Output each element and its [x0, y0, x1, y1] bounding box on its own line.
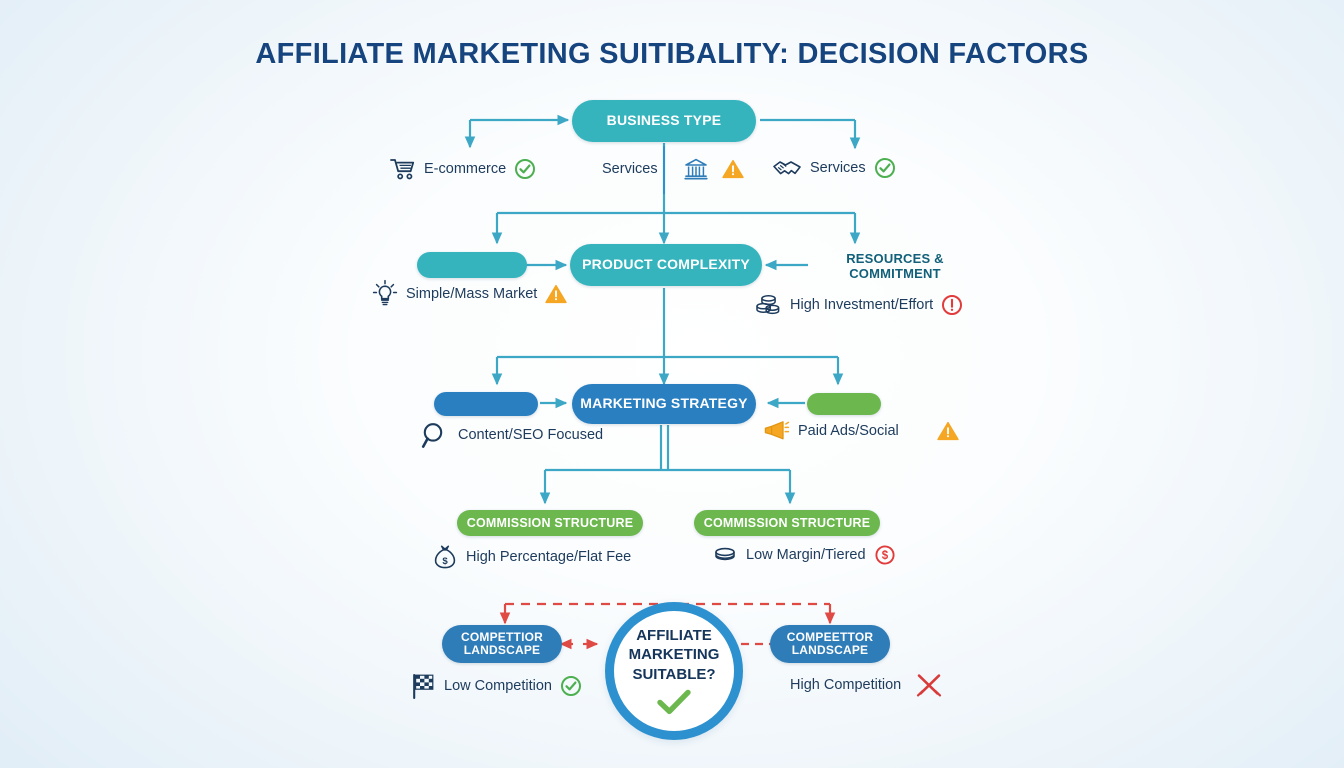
node-commission-right-label: COMMISSION STRUCTURE: [704, 516, 871, 530]
bank-icon: [684, 157, 708, 181]
money-bag-icon: $: [432, 544, 458, 570]
lightbulb-icon: [372, 279, 398, 309]
leaf-high-percentage[interactable]: $ High Percentage/Flat Fee: [432, 544, 631, 570]
shopping-cart-icon: [390, 157, 416, 181]
node-product-complexity[interactable]: PRODUCT COMPLEXITY: [570, 244, 762, 286]
warning-triangle-icon: [722, 159, 744, 179]
leaf-paid-ads[interactable]: Paid Ads/Social: [762, 420, 959, 442]
leaf-content-seo[interactable]: Content/SEO Focused: [420, 420, 603, 450]
leaf-services-partner[interactable]: Services: [772, 157, 896, 179]
leaf-high-investment[interactable]: High Investment/Effort: [754, 292, 963, 318]
leaf-services-bank[interactable]: Services: [602, 157, 744, 181]
leaf-label: High Percentage/Flat Fee: [466, 549, 631, 565]
node-competitor-left[interactable]: COMPETTIOR LANDSCAPE: [442, 625, 562, 663]
leaf-simple-mass-market[interactable]: Simple/Mass Market: [372, 279, 567, 309]
check-circle-icon: [514, 158, 536, 180]
node-commission-right[interactable]: COMMISSION STRUCTURE: [694, 510, 880, 536]
node-business-type-label: BUSINESS TYPE: [607, 113, 722, 129]
page-title: AFFILIATE MARKETING SUITIBALITY: DECISIO…: [0, 38, 1344, 71]
node-marketing-strategy[interactable]: MARKETING STRATEGY: [572, 384, 756, 424]
checkered-flag-icon: [410, 672, 436, 700]
leaf-ecommerce[interactable]: E-commerce: [390, 157, 536, 181]
decision-line-1: AFFILIATE: [636, 627, 712, 644]
decision-line-2: MARKETING: [629, 646, 720, 663]
check-mark-icon: [657, 689, 691, 715]
node-marketing-strategy-label: MARKETING STRATEGY: [580, 396, 747, 412]
leaf-label: Services: [810, 160, 866, 176]
alert-circle-icon: [941, 294, 963, 316]
node-commission-left[interactable]: COMMISSION STRUCTURE: [457, 510, 643, 536]
node-product-complexity-left-pill[interactable]: [417, 252, 527, 278]
decision-circle[interactable]: AFFILIATE MARKETING SUITABLE?: [605, 602, 743, 740]
check-circle-icon: [560, 675, 582, 697]
node-product-complexity-label: PRODUCT COMPLEXITY: [582, 257, 750, 273]
warning-triangle-icon: [937, 421, 959, 441]
label-resources-commitment: RESOURCES & COMMITMENT: [810, 251, 980, 282]
leaf-label: High Investment/Effort: [790, 297, 933, 313]
svg-text:$: $: [881, 550, 888, 562]
infographic-canvas: AFFILIATE MARKETING SUITIBALITY: DECISIO…: [0, 0, 1344, 768]
warning-triangle-icon: [545, 284, 567, 304]
check-circle-icon: [874, 157, 896, 179]
leaf-label: Services: [602, 161, 658, 177]
node-competitor-right[interactable]: COMPEETTOR LANDSCAPE: [770, 625, 890, 663]
leaf-low-competition[interactable]: Low Competition: [410, 672, 582, 700]
node-competitor-right-label: COMPEETTOR LANDSCAPE: [776, 631, 884, 658]
node-marketing-left-pill[interactable]: [434, 392, 538, 416]
dollar-alert-icon: $: [874, 544, 896, 566]
node-competitor-left-label: COMPETTIOR LANDSCAPE: [448, 631, 556, 658]
crossed-swords-icon: [915, 672, 943, 698]
node-commission-left-label: COMMISSION STRUCTURE: [467, 516, 634, 530]
leaf-label: Simple/Mass Market: [406, 286, 537, 302]
leaf-label: Content/SEO Focused: [458, 427, 603, 443]
coins-disc-icon: [712, 544, 738, 566]
leaf-label: High Competition: [790, 677, 901, 693]
node-business-type[interactable]: BUSINESS TYPE: [572, 100, 756, 142]
leaf-high-competition[interactable]: High Competition: [790, 672, 943, 698]
megaphone-icon: [762, 420, 790, 442]
leaf-label: Low Competition: [444, 678, 552, 694]
leaf-label: Low Margin/Tiered: [746, 547, 866, 563]
magnifier-icon: [420, 420, 450, 450]
svg-text:$: $: [442, 556, 448, 567]
coins-stack-icon: [754, 292, 782, 318]
leaf-low-margin[interactable]: Low Margin/Tiered $: [712, 544, 896, 566]
label-resources-commitment-text: RESOURCES & COMMITMENT: [846, 251, 944, 281]
decision-line-3: SUITABLE?: [632, 666, 715, 683]
node-marketing-right-pill[interactable]: [807, 393, 881, 415]
leaf-label: E-commerce: [424, 161, 506, 177]
leaf-label: Paid Ads/Social: [798, 423, 899, 439]
handshake-icon: [772, 157, 802, 179]
